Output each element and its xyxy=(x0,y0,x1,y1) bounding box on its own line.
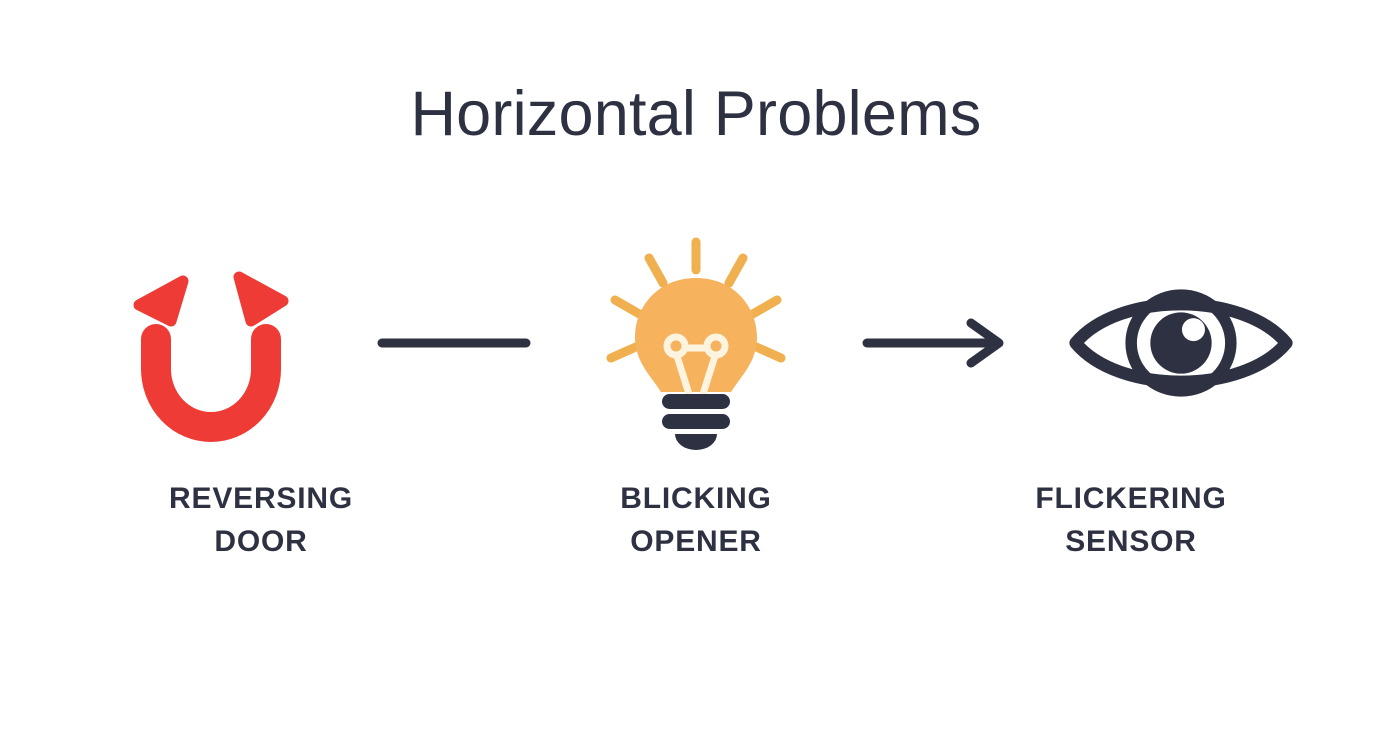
step-2-icon-container[interactable] xyxy=(581,228,811,458)
eye-pupil xyxy=(1150,312,1211,373)
step-3-label-line2: SENSOR xyxy=(966,521,1296,564)
connector-2 xyxy=(855,308,1023,378)
step-2-label-line2: OPENER xyxy=(531,521,861,564)
plain-line-connector-icon xyxy=(374,323,534,363)
eye-highlight xyxy=(1182,318,1205,341)
lightbulb-icon xyxy=(591,236,801,451)
lightbulb-base-ring-2 xyxy=(662,414,730,429)
lightbulb-glass xyxy=(635,278,757,392)
step-3-label-line1: FLICKERING xyxy=(966,478,1296,521)
step-3-icon-container[interactable] xyxy=(1066,228,1296,458)
step-1-icon-container[interactable] xyxy=(96,228,326,458)
page-title: Horizontal Problems xyxy=(0,78,1392,150)
labels-row: REVERSING DOOR BLICKING OPENER FLICKERIN… xyxy=(96,478,1296,578)
step-2-label-line1: BLICKING xyxy=(531,478,861,521)
flow-row xyxy=(96,228,1296,458)
reversing-arrows-icon xyxy=(111,243,311,443)
lightbulb-base-ring-1 xyxy=(662,394,730,409)
arrow-right-icon xyxy=(859,318,1019,368)
step-2-label: BLICKING OPENER xyxy=(531,478,861,563)
infographic-canvas: Horizontal Problems xyxy=(0,0,1392,752)
step-3-label: FLICKERING SENSOR xyxy=(966,478,1296,563)
step-1-label-line2: DOOR xyxy=(96,521,426,564)
step-1-label-line1: REVERSING xyxy=(96,478,426,521)
connector-1 xyxy=(370,308,538,378)
step-1-label: REVERSING DOOR xyxy=(96,478,426,563)
eye-icon xyxy=(1066,273,1296,413)
lightbulb-base-cap xyxy=(675,434,717,450)
